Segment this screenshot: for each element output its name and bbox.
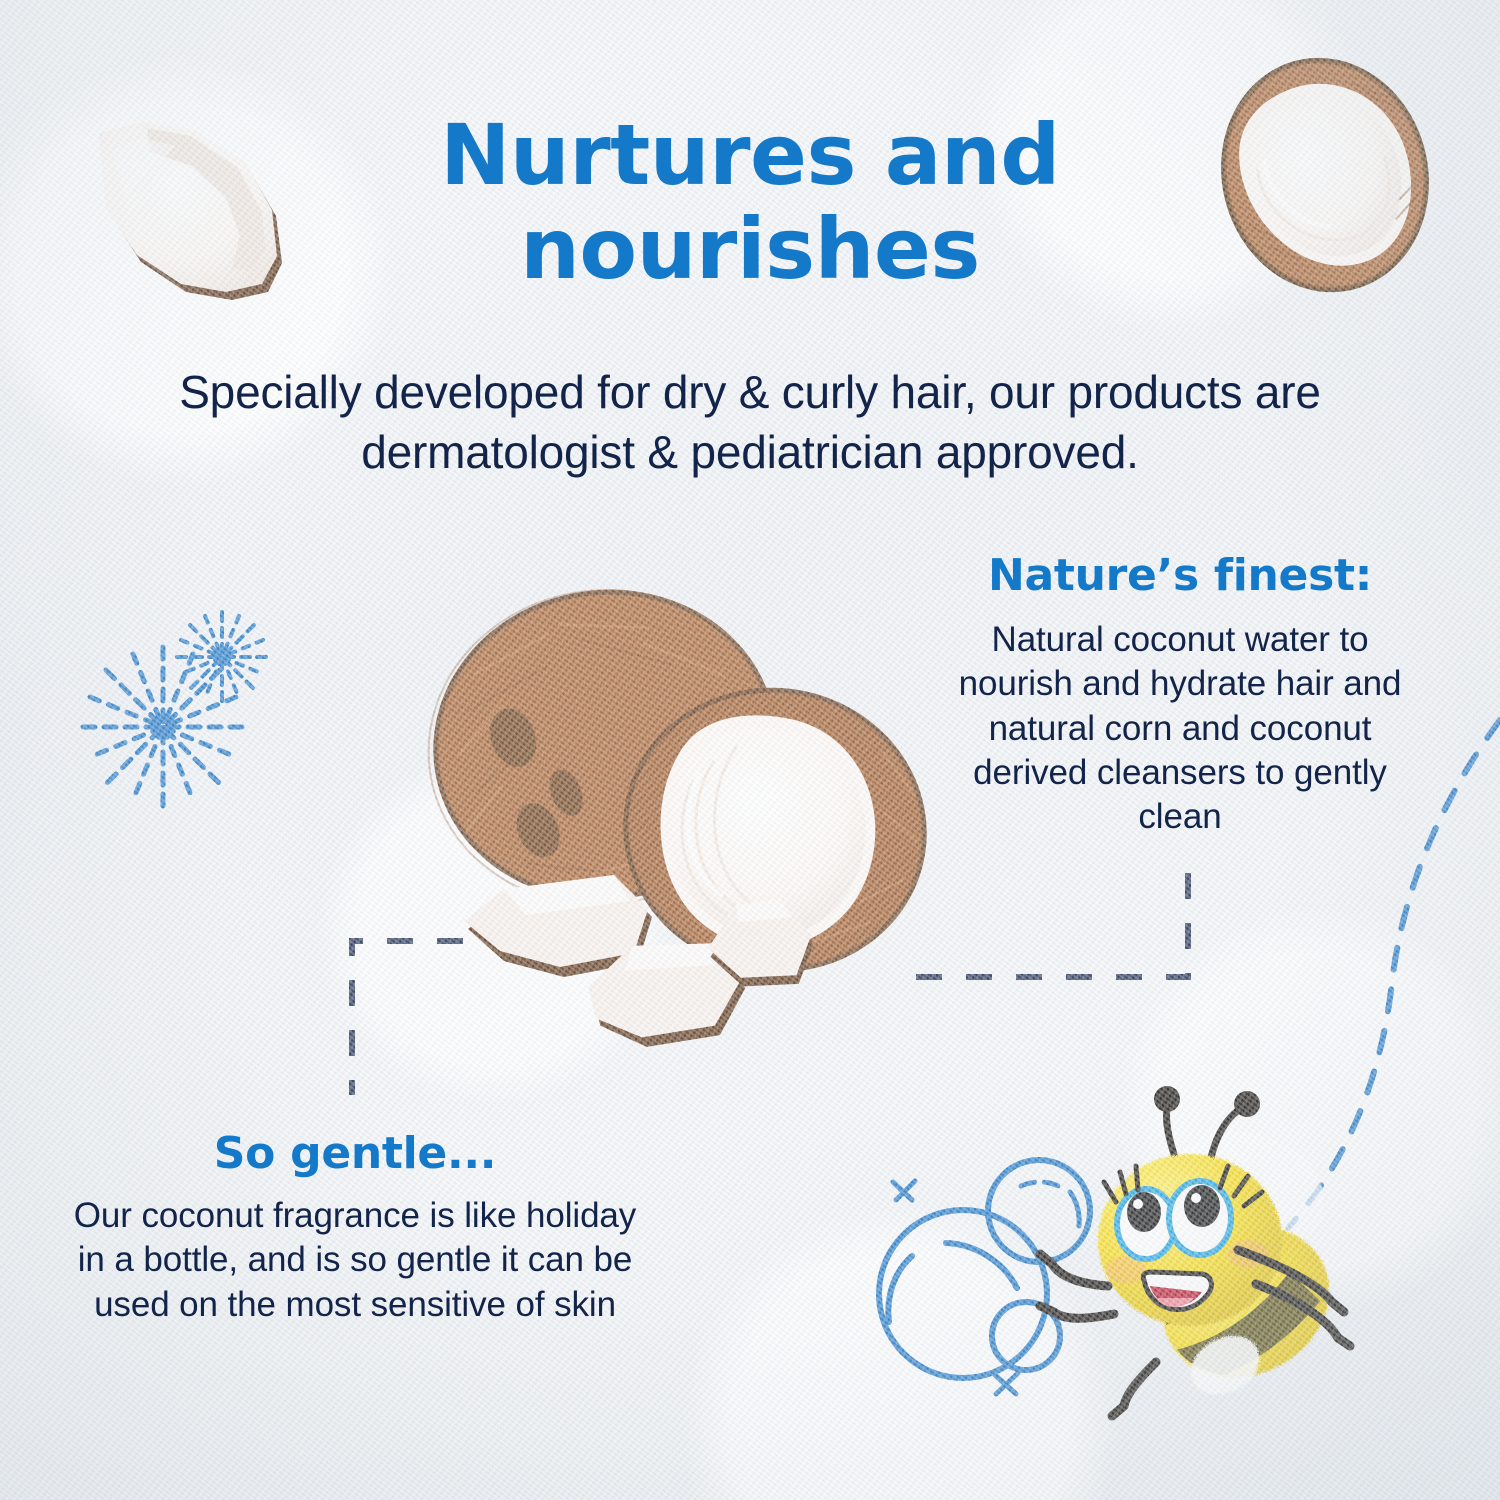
title-line-1: Nurtures and (440, 106, 1060, 204)
section-body-so-gentle: Our coconut fragrance is like holiday in… (70, 1194, 640, 1326)
subtitle-line-1: Specially developed for dry & curly hair… (179, 366, 1242, 418)
section-so-gentle: So gentle... Our coconut fragrance is li… (70, 1130, 640, 1327)
title-line-2: nourishes (300, 202, 1200, 296)
page-title: Nurtures and nourishes (0, 108, 1500, 296)
page-subtitle: Specially developed for dry & curly hair… (100, 363, 1400, 483)
section-heading-natures-finest: Nature’s finest: (930, 552, 1430, 600)
bubbles-icon (879, 1160, 1090, 1394)
dashed-connector-left (352, 941, 463, 1095)
infographic-canvas: Nurtures and nourishes Specially develop… (0, 0, 1500, 1500)
cartoon-bee-icon (1040, 1086, 1369, 1436)
coconut-chunks (464, 875, 821, 1052)
sparkle-burst-icon (83, 612, 267, 807)
section-natures-finest: Nature’s finest: Natural coconut water t… (930, 552, 1430, 839)
dashed-connector-right (908, 873, 1188, 977)
section-body-natures-finest: Natural coconut water to nourish and hyd… (930, 618, 1430, 838)
section-heading-so-gentle: So gentle... (70, 1130, 640, 1178)
coconut-pair-icon (408, 568, 949, 1053)
